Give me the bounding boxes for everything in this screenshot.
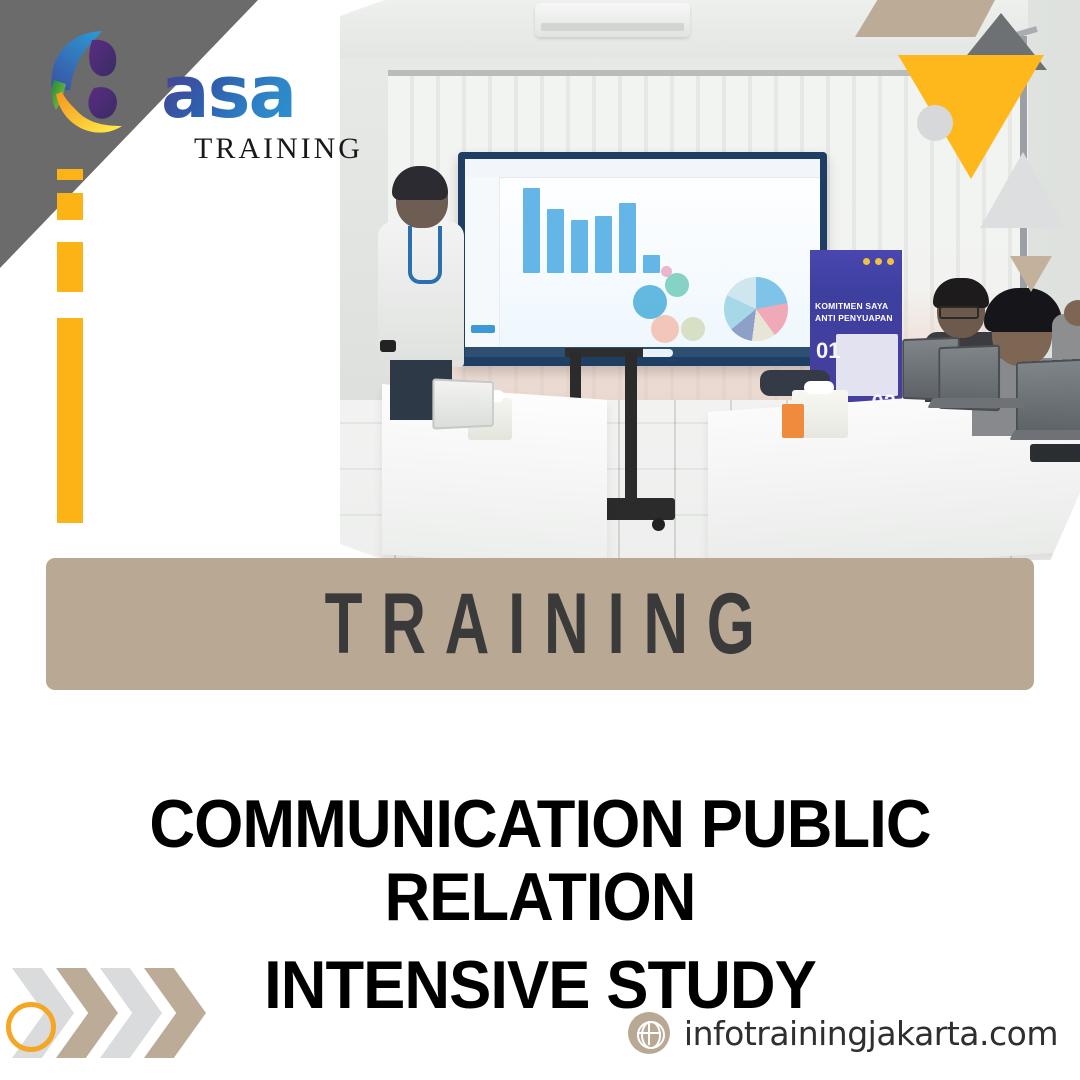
dashboard-button (471, 325, 495, 333)
training-banner: TRAINING (46, 558, 1034, 690)
laptop-2 (936, 346, 996, 406)
poster-headline-2: ANTI PENYUAPAN (815, 314, 898, 324)
logo-wordmark: asa (161, 56, 295, 128)
dashboard-ui (465, 159, 820, 359)
bubble-4 (681, 317, 705, 341)
phone (1030, 444, 1080, 462)
poster-headline-1: KOMITMEN SAYA (815, 302, 898, 312)
brand-logo: asa TRAINING (36, 22, 356, 172)
app-ribbon (465, 159, 820, 178)
caster-right (652, 518, 665, 531)
laptop-3 (1012, 360, 1080, 432)
air-conditioner (535, 3, 690, 37)
orange-dash-2 (57, 193, 83, 220)
pie-chart (724, 277, 788, 341)
website-url[interactable]: infotrainingjakarta.com (684, 1014, 1058, 1053)
bar-6 (643, 255, 660, 273)
casa-circle-logo-icon (36, 22, 164, 150)
orange-ring (6, 1002, 56, 1052)
bubble-5 (661, 266, 672, 277)
bubble-3 (651, 315, 679, 343)
display-screen (458, 152, 827, 366)
website-footer[interactable]: infotrainingjakarta.com (628, 1012, 1058, 1054)
logo-subtitle: TRAINING (194, 134, 363, 164)
bar-3 (571, 220, 588, 273)
laptop-base-2 (1009, 430, 1080, 440)
tan-trapezoid (855, 0, 995, 37)
training-banner-label: TRAINING (306, 575, 774, 674)
poster-header (810, 250, 902, 298)
poster-number-1: 01 (816, 338, 840, 364)
poster-canvas: KOMITMEN SAYA ANTI PENYUAPAN 01 02 (0, 0, 1080, 1080)
title-line-1: COMMUNICATION PUBLIC RELATION (38, 788, 1042, 935)
tv-stand-column-right (625, 352, 637, 512)
bar-5 (619, 203, 636, 273)
laptop-front (432, 380, 494, 424)
bubble-2 (665, 273, 689, 297)
bar-chart (523, 181, 660, 273)
bubble-1 (633, 285, 667, 319)
poster-card-1 (836, 334, 898, 396)
orange-dash-3 (57, 242, 83, 292)
bar-2 (547, 209, 564, 273)
bar-4 (595, 216, 612, 273)
tissue-box-right (792, 390, 848, 438)
bar-1 (523, 188, 540, 273)
globe-icon (628, 1012, 670, 1054)
laptop-base-1 (927, 398, 1028, 408)
gray-circle (917, 105, 953, 141)
orange-dash-4 (57, 318, 83, 523)
screen-chin (465, 357, 820, 366)
